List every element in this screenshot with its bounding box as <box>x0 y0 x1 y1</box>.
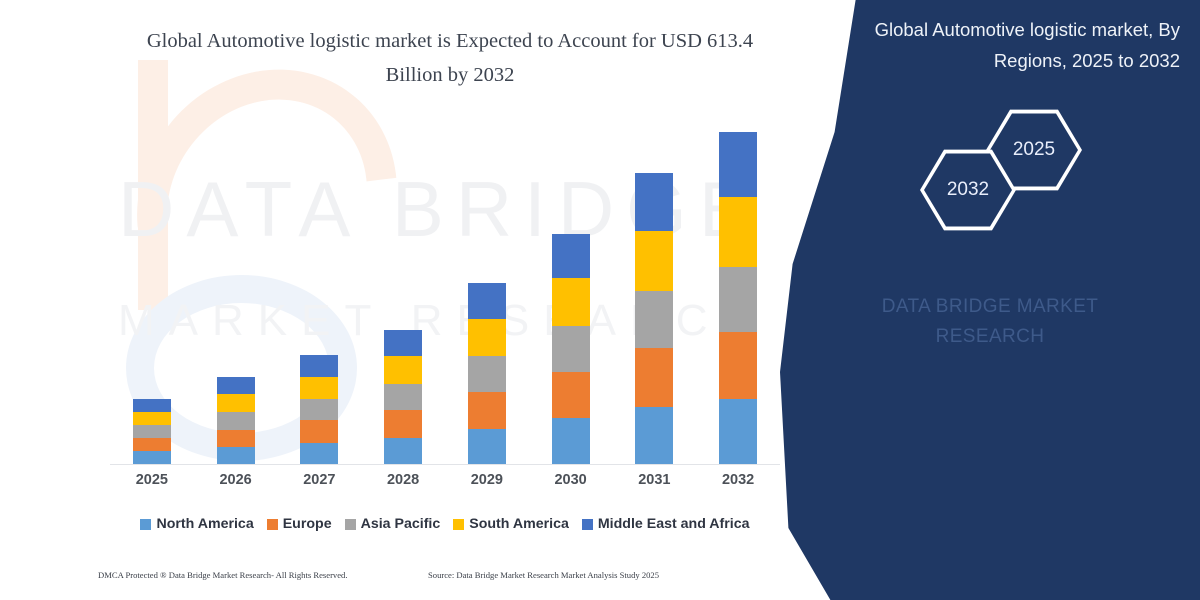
x-tick-2032: 2032 <box>708 472 768 488</box>
legend-swatch-icon <box>582 519 593 530</box>
chart-title: Global Automotive logistic market is Exp… <box>120 24 780 92</box>
bar-segment-europe <box>217 430 255 447</box>
hex-badge-2032-label: 2032 <box>947 179 989 201</box>
bar-2029 <box>468 283 506 464</box>
bar-segment-north-america <box>552 418 590 464</box>
bar-2031 <box>635 173 673 464</box>
bar-segment-south-america <box>719 197 757 267</box>
panel-brand: DATA BRIDGE MARKET RESEARCH <box>810 292 1170 352</box>
panel-title: Global Automotive logistic market, By Re… <box>820 14 1180 76</box>
bar-segment-europe <box>133 438 171 451</box>
x-tick-2031: 2031 <box>624 472 684 488</box>
bar-segment-north-america <box>719 399 757 464</box>
legend-swatch-icon <box>140 519 151 530</box>
infographic-root: DATA BRIDGE MARKET RESEARCH Global Autom… <box>0 0 1200 600</box>
right-panel: Global Automotive logistic market, By Re… <box>780 0 1200 600</box>
legend-swatch-icon <box>453 519 464 530</box>
bar-segment-south-america <box>384 356 422 383</box>
bar-segment-europe <box>384 410 422 437</box>
footer-copyright: DMCA Protected ® Data Bridge Market Rese… <box>98 570 348 580</box>
bar-segment-south-america <box>552 278 590 326</box>
legend-item-north-america: North America <box>140 516 253 532</box>
bar-segment-asia-pacific <box>719 267 757 332</box>
bar-segment-north-america <box>217 447 255 464</box>
bar-segment-south-america <box>635 231 673 291</box>
bar-segment-north-america <box>468 429 506 465</box>
legend-label: North America <box>156 516 253 532</box>
panel-brand-line1: DATA BRIDGE MARKET <box>810 292 1170 322</box>
legend-item-middle-east-and-africa: Middle East and Africa <box>582 516 750 532</box>
bar-chart-plot <box>110 120 780 465</box>
bar-segment-south-america <box>468 319 506 357</box>
bar-segment-asia-pacific <box>552 326 590 372</box>
bar-2028 <box>384 330 422 464</box>
x-axis-labels: 20252026202720282029203020312032 <box>110 472 780 498</box>
bar-2032 <box>719 132 757 464</box>
bar-2025 <box>133 399 171 464</box>
bar-segment-south-america <box>133 412 171 425</box>
x-tick-2029: 2029 <box>457 472 517 488</box>
panel-brand-line2: RESEARCH <box>810 322 1170 352</box>
bar-segment-middle-east-and-africa <box>384 330 422 356</box>
bar-segment-europe <box>300 420 338 442</box>
bar-segment-asia-pacific <box>217 412 255 429</box>
bar-2030 <box>552 234 590 464</box>
footer-source: Source: Data Bridge Market Research Mark… <box>428 570 659 580</box>
legend-item-south-america: South America <box>453 516 569 532</box>
bar-segment-north-america <box>133 451 171 464</box>
bar-segment-asia-pacific <box>300 399 338 420</box>
x-tick-2027: 2027 <box>289 472 349 488</box>
bar-segment-asia-pacific <box>133 425 171 437</box>
bar-segment-asia-pacific <box>384 384 422 410</box>
bar-segment-middle-east-and-africa <box>133 399 171 412</box>
bar-segment-north-america <box>384 438 422 464</box>
bar-segment-europe <box>635 348 673 407</box>
bar-segment-middle-east-and-africa <box>217 377 255 394</box>
legend-swatch-icon <box>267 519 278 530</box>
bar-segment-middle-east-and-africa <box>300 355 338 376</box>
x-tick-2025: 2025 <box>122 472 182 488</box>
bar-segment-south-america <box>300 377 338 399</box>
bar-segment-middle-east-and-africa <box>552 234 590 279</box>
x-tick-2026: 2026 <box>206 472 266 488</box>
hex-badge-2025-label: 2025 <box>1013 139 1055 161</box>
legend-swatch-icon <box>345 519 356 530</box>
bar-2027 <box>300 355 338 464</box>
legend-label: Europe <box>283 516 332 532</box>
bar-segment-middle-east-and-africa <box>635 173 673 231</box>
chart-legend: North AmericaEuropeAsia PacificSouth Ame… <box>110 512 780 536</box>
legend-label: South America <box>469 516 569 532</box>
bar-segment-europe <box>552 372 590 419</box>
legend-label: Asia Pacific <box>361 516 441 532</box>
bar-segment-middle-east-and-africa <box>719 132 757 197</box>
x-tick-2030: 2030 <box>541 472 601 488</box>
bar-segment-south-america <box>217 394 255 412</box>
legend-item-europe: Europe <box>267 516 332 532</box>
bar-segment-asia-pacific <box>635 291 673 349</box>
legend-item-asia-pacific: Asia Pacific <box>345 516 441 532</box>
bar-segment-asia-pacific <box>468 356 506 392</box>
bar-segment-europe <box>719 332 757 399</box>
x-tick-2028: 2028 <box>373 472 433 488</box>
bar-2026 <box>217 377 255 464</box>
bar-segment-middle-east-and-africa <box>468 283 506 319</box>
bar-segment-north-america <box>300 443 338 464</box>
hexagon-badges: 2025 2032 <box>910 108 1110 218</box>
bar-segment-north-america <box>635 407 673 464</box>
legend-label: Middle East and Africa <box>598 516 750 532</box>
bar-segment-europe <box>468 392 506 429</box>
axis-baseline <box>110 464 780 465</box>
